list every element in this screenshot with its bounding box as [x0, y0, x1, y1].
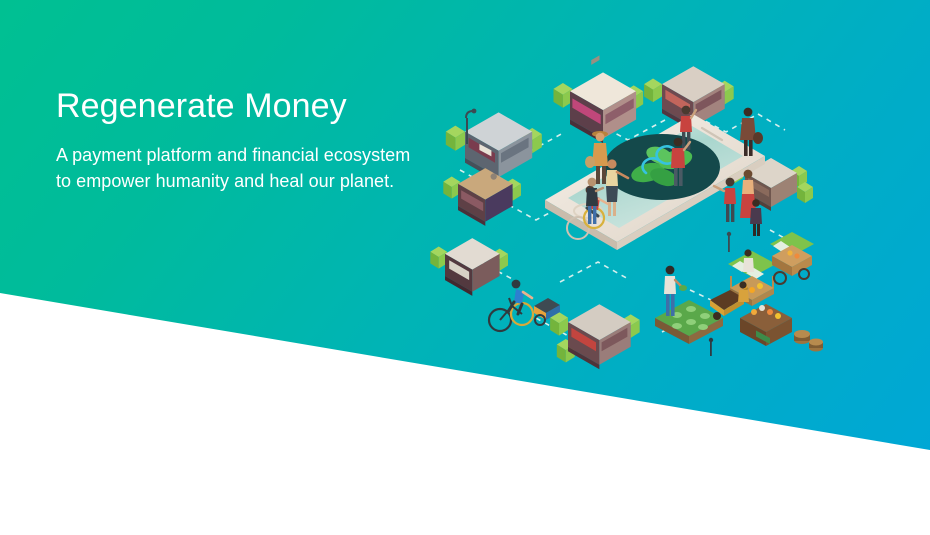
hero-subtitle-line-1: A payment platform and financial ecosyst…: [56, 145, 410, 165]
storefront-building: [553, 55, 643, 143]
cyclist-with-trailer: [489, 280, 560, 331]
isometric-ecosystem-illustration: [440, 50, 870, 370]
regenerate-money-logo: [604, 134, 720, 200]
hero-subtitle: A payment platform and financial ecosyst…: [56, 142, 456, 194]
storefront-building: [430, 238, 508, 296]
storefront-building: [446, 112, 542, 182]
market-stall: [740, 304, 823, 352]
storefront-building: [443, 168, 521, 226]
storefront-building: [550, 304, 640, 369]
hero-copy-block: Regenerate Money A payment platform and …: [56, 88, 476, 194]
street-lamp: [709, 338, 713, 356]
hero-subtitle-line-2: to empower humanity and heal our planet.: [56, 171, 394, 191]
page-title: Regenerate Money: [56, 88, 476, 125]
hero-section: Regenerate Money A payment platform and …: [0, 0, 930, 535]
produce-cart: [770, 232, 814, 284]
street-lamp: [727, 232, 731, 252]
